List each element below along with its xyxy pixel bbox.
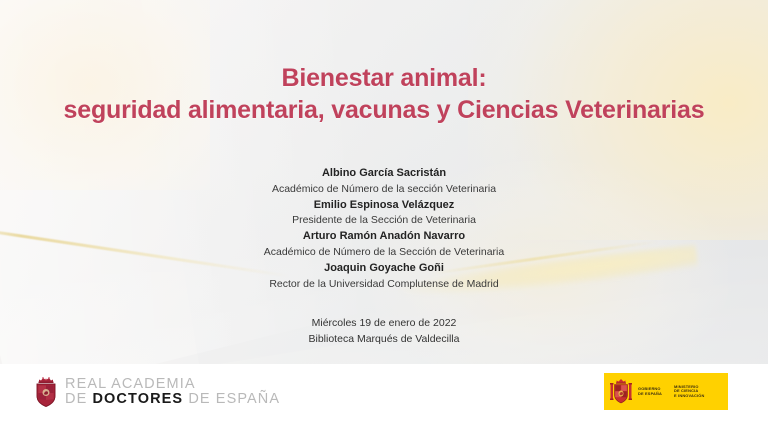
heraldic-crest-icon — [32, 376, 60, 408]
gobierno-wordmark: GOBIERNO DE ESPAÑA — [638, 387, 662, 396]
rade-line-2-suffix: DE ESPAÑA — [183, 391, 280, 407]
speaker-name: Albino García Sacristán — [0, 166, 768, 182]
gobierno-line-2: DE ESPAÑA — [638, 392, 662, 397]
speaker-entry: Joaquin Goyache Goñi Rector de la Univer… — [0, 261, 768, 292]
ministerio-line-3: E INNOVACIÓN — [674, 394, 704, 399]
ministerio-wordmark: MINISTERIO DE CIENCIA E INNOVACIÓN — [674, 385, 704, 399]
slide-footer: REAL ACADEMIA DE DOCTORES DE ESPAÑA — [0, 364, 768, 432]
speaker-role: Académico de Número de la sección Veteri… — [0, 182, 768, 197]
speaker-role: Rector de la Universidad Complutense de … — [0, 277, 768, 292]
speaker-entry: Emilio Espinosa Velázquez Presidente de … — [0, 198, 768, 229]
spain-coat-of-arms-icon — [610, 378, 632, 405]
real-academia-de-doctores-logo: REAL ACADEMIA DE DOCTORES DE ESPAÑA — [32, 376, 280, 408]
speaker-list: Albino García Sacristán Académico de Núm… — [0, 166, 768, 293]
speaker-name: Arturo Ramón Anadón Navarro — [0, 229, 768, 245]
rade-line-2: DE DOCTORES DE ESPAÑA — [65, 392, 280, 407]
rade-line-2-prefix: DE — [65, 391, 92, 407]
rade-line-1: REAL ACADEMIA — [65, 377, 280, 392]
speaker-role: Académico de Número de la Sección de Vet… — [0, 245, 768, 260]
event-info: Miércoles 19 de enero de 2022 Biblioteca… — [0, 316, 768, 348]
speaker-name: Emilio Espinosa Velázquez — [0, 198, 768, 214]
event-date: Miércoles 19 de enero de 2022 — [0, 316, 768, 332]
speaker-role: Presidente de la Sección de Veterinaria — [0, 213, 768, 228]
gobierno-de-espana-logo: GOBIERNO DE ESPAÑA MINISTERIO DE CIENCIA… — [604, 373, 728, 410]
rade-line-2-strong: DOCTORES — [92, 391, 183, 407]
speaker-name: Joaquin Goyache Goñi — [0, 261, 768, 277]
title-line-1: Bienestar animal: — [0, 62, 768, 94]
speaker-entry: Arturo Ramón Anadón Navarro Académico de… — [0, 229, 768, 260]
speaker-entry: Albino García Sacristán Académico de Núm… — [0, 166, 768, 197]
event-venue: Biblioteca Marqués de Valdecilla — [0, 332, 768, 348]
title-line-2: seguridad alimentaria, vacunas y Ciencia… — [0, 94, 768, 126]
presentation-slide: Bienestar animal: seguridad alimentaria,… — [0, 0, 768, 432]
real-academia-wordmark: REAL ACADEMIA DE DOCTORES DE ESPAÑA — [65, 377, 280, 407]
slide-title: Bienestar animal: seguridad alimentaria,… — [0, 62, 768, 126]
